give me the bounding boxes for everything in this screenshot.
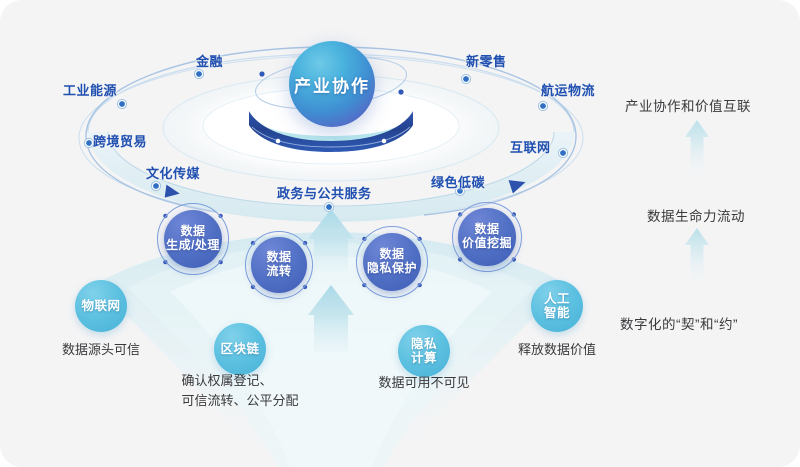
caption-line: 数据可用不可见	[378, 373, 469, 393]
tech-circle-label-line1: 物联网	[81, 299, 120, 313]
orbit-label-1[interactable]: 工业能源	[63, 84, 117, 97]
tech-circle-label: 人工智能	[544, 292, 570, 321]
tech-circle-label-line1: 隐私	[411, 337, 437, 351]
tech-circle-2[interactable]: 隐私计算	[398, 325, 450, 377]
legend-flow-arrows	[685, 120, 709, 283]
tech-circle-0[interactable]: 物联网	[75, 280, 127, 332]
orbit-label-0[interactable]: 金融	[196, 55, 223, 68]
tech-circle-caption-3: 释放数据价值	[557, 340, 800, 360]
legend-text-1: 数据生命力流动	[647, 205, 745, 225]
orbit-label-2[interactable]: 跨境贸易	[93, 135, 147, 148]
caption-line: 确认权属登记、	[181, 371, 298, 391]
stage-circle-label-line1: 数据	[266, 250, 291, 264]
stage-circle-label-line2: 生成/处理	[166, 238, 220, 252]
orbit-node-dot	[194, 69, 203, 78]
caption-line: 释放数据价值	[518, 340, 596, 360]
stage-circle-inner: 数据隐私保护	[363, 233, 422, 292]
tech-circle-label-line2: 计算	[411, 351, 437, 365]
legend-flow-arrow	[685, 120, 709, 175]
orbit-node-dot	[558, 148, 567, 157]
stage-circle-inner: 数据生成/处理	[164, 210, 223, 269]
tech-circle-3[interactable]: 人工智能	[531, 280, 583, 332]
orbit-node-dot	[324, 202, 333, 211]
legend-text-0: 产业协作和价值互联	[625, 95, 751, 115]
stage-circle-2[interactable]: 数据隐私保护	[356, 226, 428, 298]
infographic-canvas: 产业协作 金融工业能源跨境贸易文化传媒政务与公共服务绿色低碳互联网航运物流新零售…	[0, 0, 800, 467]
tech-circle-label-line1: 区块链	[220, 342, 259, 356]
stage-circle-label: 数据生成/处理	[166, 225, 220, 253]
orbit-node-dot	[151, 181, 160, 190]
stage-circle-0[interactable]: 数据生成/处理	[157, 203, 229, 275]
orbit-label-8[interactable]: 新零售	[466, 55, 507, 68]
center-sphere[interactable]: 产业协作	[289, 41, 375, 127]
caption-line: 数据源头可信	[62, 340, 140, 360]
stage-circle-label-line1: 数据	[180, 224, 205, 238]
tech-circle-label: 物联网	[81, 299, 120, 313]
legend-text-2: 数字化的“契”和“约”	[620, 313, 738, 333]
stage-circle-3[interactable]: 数据价值挖掘	[452, 202, 522, 272]
stage-circle-label-line2: 流转	[266, 264, 291, 278]
stage-circle-label: 数据价值挖掘	[462, 223, 512, 251]
tech-circle-1[interactable]: 区块链	[214, 323, 266, 375]
tech-circle-caption-2: 数据可用不可见	[424, 373, 800, 393]
orbit-node-dot	[461, 74, 470, 83]
orbit-label-3[interactable]: 文化传媒	[146, 167, 200, 180]
tech-circle-label-line1: 人工	[544, 292, 570, 306]
tech-circle-label: 隐私计算	[411, 337, 437, 366]
tech-circle-label: 区块链	[220, 342, 259, 356]
stage-circle-1[interactable]: 数据流转	[245, 231, 313, 299]
stage-circle-inner: 数据价值挖掘	[458, 208, 515, 265]
orbit-node-dot	[538, 101, 547, 110]
stage-circle-inner: 数据流转	[251, 237, 306, 292]
stage-circle-label: 数据隐私保护	[367, 248, 417, 276]
stage-circle-label-line2: 隐私保护	[367, 261, 417, 275]
orbit-label-7[interactable]: 航运物流	[541, 84, 595, 97]
stage-circle-label-line2: 价值挖掘	[462, 236, 512, 250]
tech-circle-label-line2: 智能	[544, 306, 570, 320]
legend-flow-arrow	[685, 228, 709, 283]
stage-circle-label-line1: 数据	[474, 222, 499, 236]
orbit-label-5[interactable]: 绿色低碳	[431, 176, 485, 189]
orbit-label-4[interactable]: 政务与公共服务	[277, 187, 372, 200]
caption-line: 可信流转、公平分配	[181, 391, 298, 411]
orbit-node-dot	[117, 99, 126, 108]
stage-circle-label-line1: 数据	[379, 247, 404, 261]
stage-circle-label: 数据流转	[266, 251, 291, 279]
center-sphere-label: 产业协作	[294, 72, 370, 97]
orbit-label-6[interactable]: 互联网	[510, 141, 551, 154]
